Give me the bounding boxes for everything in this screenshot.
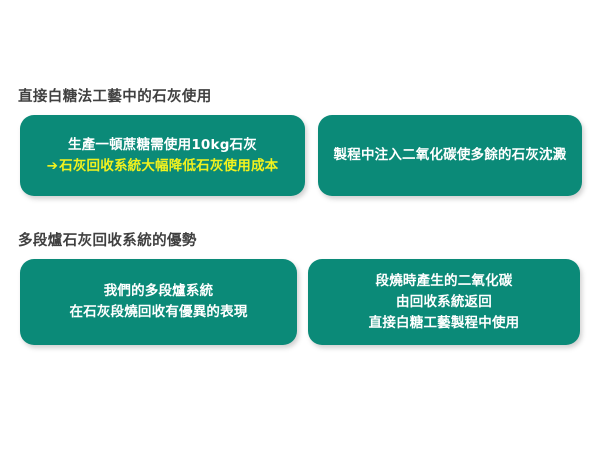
section-heading-recycling-advantages: 多段爐石灰回收系統的優勢 (18, 232, 600, 250)
card-line: 段燒時產生的二氧化碳 (376, 271, 513, 292)
card-line: 我們的多段爐系統 (104, 281, 214, 302)
card-line: 由回收系統返回 (396, 292, 492, 313)
card-row-top: 生產一頓蔗糖需使用10kg石灰 ➔石灰回收系統大幅降低石灰使用成本 製程中注入二… (0, 115, 600, 196)
card-line: 生產一頓蔗糖需使用10kg石灰 (68, 135, 257, 156)
card-line: 製程中注入二氧化碳使多餘的石灰沈澱 (334, 145, 567, 166)
section-lime-usage: 直接白糖法工藝中的石灰使用 生產一頓蔗糖需使用10kg石灰 ➔石灰回收系統大幅降… (0, 88, 600, 196)
co2-recycle-card[interactable]: 段燒時產生的二氧化碳 由回收系統返回 直接白糖工藝製程中使用 (308, 259, 580, 345)
multi-hearth-performance-card[interactable]: 我們的多段爐系統 在石灰段燒回收有優異的表現 (20, 259, 297, 345)
co2-injection-card[interactable]: 製程中注入二氧化碳使多餘的石灰沈澱 (318, 115, 582, 196)
section-heading-lime-usage: 直接白糖法工藝中的石灰使用 (18, 88, 600, 106)
arrow-right-icon: ➔ (47, 158, 59, 174)
lime-usage-card[interactable]: 生產一頓蔗糖需使用10kg石灰 ➔石灰回收系統大幅降低石灰使用成本 (20, 115, 305, 196)
card-line-accent-text: 石灰回收系統大幅降低石灰使用成本 (59, 158, 278, 174)
card-row-bottom: 我們的多段爐系統 在石灰段燒回收有優異的表現 段燒時產生的二氧化碳 由回收系統返… (0, 259, 600, 345)
card-line: 直接白糖工藝製程中使用 (369, 313, 520, 334)
slide-canvas: 直接白糖法工藝中的石灰使用 生產一頓蔗糖需使用10kg石灰 ➔石灰回收系統大幅降… (0, 0, 600, 450)
card-line: 在石灰段燒回收有優異的表現 (69, 302, 247, 323)
card-line-accent: ➔石灰回收系統大幅降低石灰使用成本 (47, 156, 279, 177)
section-recycling-advantages: 多段爐石灰回收系統的優勢 我們的多段爐系統 在石灰段燒回收有優異的表現 段燒時產… (0, 232, 600, 345)
